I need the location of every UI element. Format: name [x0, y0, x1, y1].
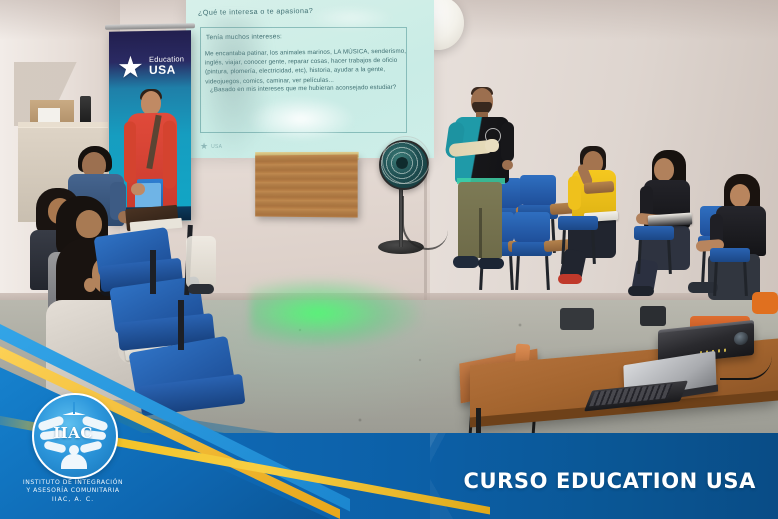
background-chair	[640, 306, 666, 326]
chair-back	[520, 175, 556, 205]
fan-power-cord	[402, 196, 448, 250]
student-ear	[84, 278, 96, 292]
presenter-shoe	[478, 258, 504, 269]
star-icon: ★	[117, 53, 147, 84]
student-head	[76, 210, 102, 238]
paper-sheet	[38, 108, 60, 122]
photo-canvas: ¿Qué te interesa o te apasiona? Tenía mu…	[0, 0, 778, 519]
presenter-shoe	[453, 256, 479, 268]
student-shoe	[628, 286, 654, 296]
presenter-arm-left	[501, 122, 514, 162]
student-head	[654, 158, 674, 181]
bottle	[80, 96, 91, 124]
background-chair	[560, 308, 594, 330]
banner-brand-line2: USA	[149, 63, 176, 77]
table-leg	[476, 408, 481, 458]
standing-person-white	[186, 236, 216, 288]
banner-person-head	[141, 91, 161, 115]
banner-person-arm-right	[163, 121, 176, 189]
student-shoe	[558, 274, 582, 284]
chair-seat	[558, 216, 598, 230]
chair-seat	[634, 226, 674, 240]
screen-glare-top	[306, 6, 396, 30]
chair-back	[514, 212, 550, 242]
orange-bag	[752, 292, 778, 314]
presenter-hand-left	[502, 160, 513, 170]
wooden-board	[255, 154, 357, 217]
chair-leg	[178, 300, 184, 350]
standing-person-shoe	[188, 284, 214, 294]
presenter-shadow-on-screen	[195, 16, 271, 158]
presenter-hand-right	[485, 139, 499, 152]
student-head	[730, 184, 750, 207]
chair-writing-arm	[584, 181, 615, 194]
student-arm	[568, 176, 581, 210]
fan-hub	[396, 157, 408, 169]
green-light-reflection	[250, 278, 420, 348]
presenter-standing	[445, 88, 515, 278]
presenter-leg-gap	[479, 208, 482, 258]
classroom-scene: ¿Qué te interesa o te apasiona? Tenía mu…	[0, 0, 778, 519]
chair-leg	[150, 250, 156, 294]
chair-seat	[710, 248, 750, 262]
